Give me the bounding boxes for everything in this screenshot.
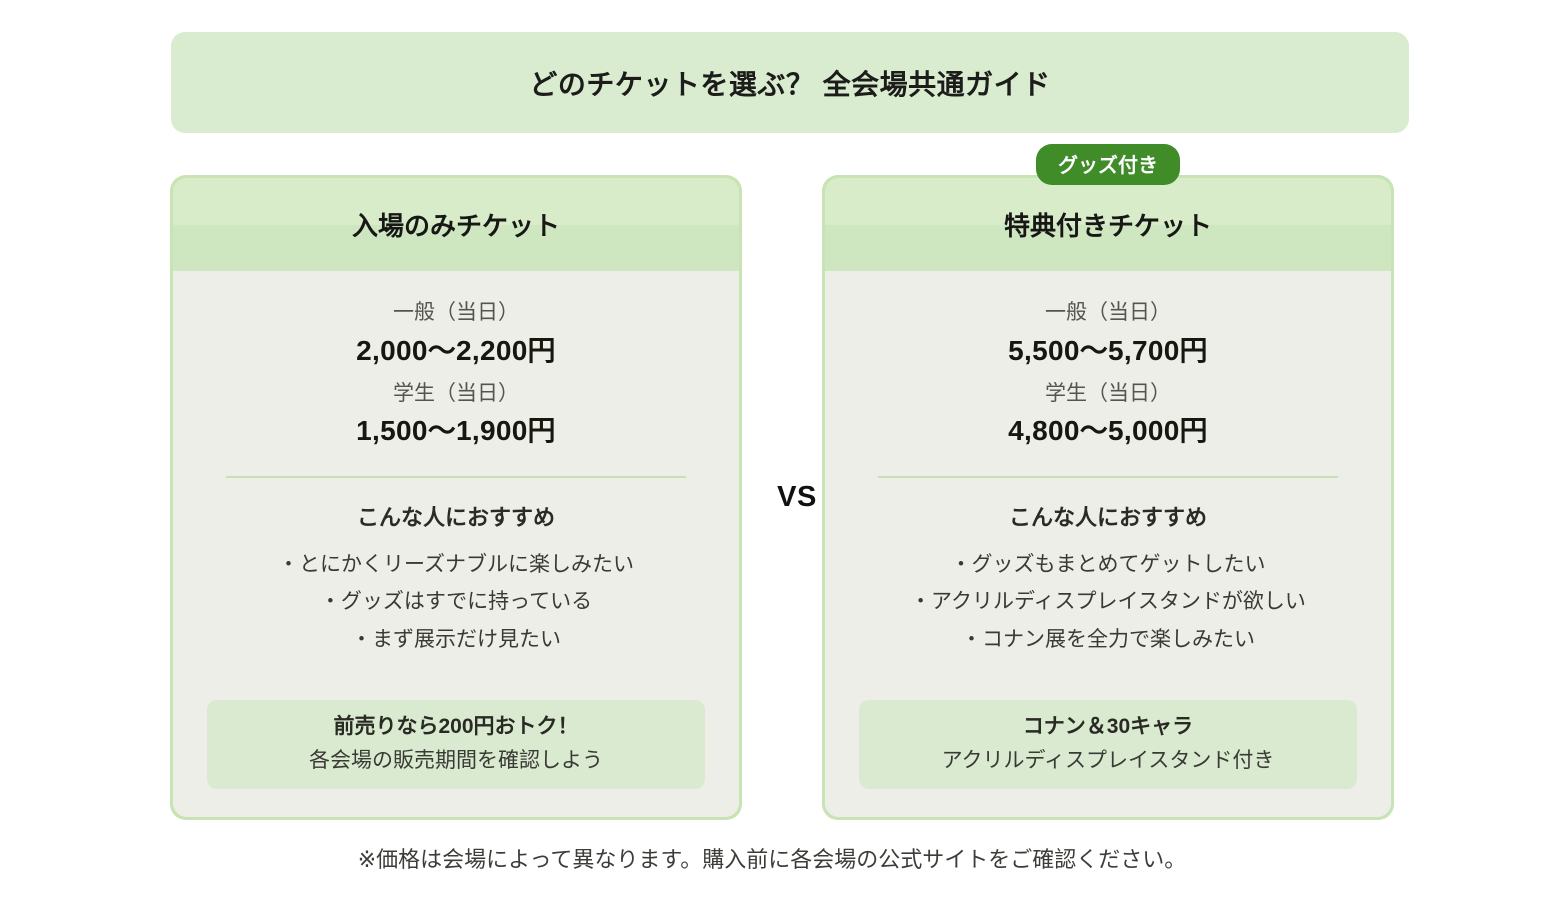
recommendation-title: こんな人におすすめ [357, 500, 555, 532]
card-inner: 入場のみチケット 一般（当日） 2,000〜2,200円 学生（当日） 1,50… [173, 178, 739, 817]
recommendation-list: ・グッズもまとめてゲットしたい ・アクリルディスプレイスタンドが欲しい ・コナン… [861, 546, 1355, 658]
comparison-row: 入場のみチケット 一般（当日） 2,000〜2,200円 学生（当日） 1,50… [0, 175, 1544, 820]
status-badge: グッズ付き [1036, 144, 1180, 185]
recommendation-list: ・とにかくリーズナブルに楽しみたい ・グッズはすでに持っている ・まず展示だけ見… [209, 546, 703, 658]
card-note-box: コナン＆30キャラ アクリルディスプレイスタンド付き [859, 700, 1357, 789]
list-item: ・アクリルディスプレイスタンドが欲しい [861, 583, 1355, 620]
page-footnote: ※価格は会場によって異なります。購入前に各会場の公式サイトをご確認ください。 [0, 842, 1544, 874]
price-label-general: 一般（当日） [209, 297, 703, 330]
card-body: 一般（当日） 2,000〜2,200円 学生（当日） 1,500〜1,900円 … [173, 271, 739, 817]
page-title: どのチケットを選ぶ？ 全会場共通ガイド [529, 63, 1050, 103]
card-header: 入場のみチケット [173, 178, 739, 271]
price-label-student: 学生（当日） [861, 378, 1355, 411]
card-title: 入場のみチケット [352, 206, 560, 243]
list-item: ・コナン展を全力で楽しみたい [861, 621, 1355, 658]
price-value-general: 5,500〜5,700円 [861, 330, 1355, 372]
card-note-box: 前売りなら200円おトク！ 各会場の販売期間を確認しよう [207, 700, 705, 789]
note-subtext: 各会場の販売期間を確認しよう [219, 745, 693, 777]
card-inner: 特典付きチケット 一般（当日） 5,500〜5,700円 学生（当日） 4,80… [825, 178, 1391, 817]
page-title-banner: どのチケットを選ぶ？ 全会場共通ガイド [171, 32, 1409, 133]
section-divider [878, 476, 1338, 478]
recommendation-title: こんな人におすすめ [1009, 500, 1207, 532]
card-header: 特典付きチケット [825, 178, 1391, 271]
card-title: 特典付きチケット [1004, 206, 1212, 243]
ticket-card-entry-only[interactable]: 入場のみチケット 一般（当日） 2,000〜2,200円 学生（当日） 1,50… [170, 175, 742, 820]
price-label-student: 学生（当日） [209, 378, 703, 411]
price-label-general: 一般（当日） [861, 297, 1355, 330]
note-subtext: アクリルディスプレイスタンド付き [871, 745, 1345, 777]
list-item: ・グッズもまとめてゲットしたい [861, 546, 1355, 583]
list-item: ・まず展示だけ見たい [209, 621, 703, 658]
card-body: 一般（当日） 5,500〜5,700円 学生（当日） 4,800〜5,000円 … [825, 271, 1391, 817]
price-block: 一般（当日） 2,000〜2,200円 学生（当日） 1,500〜1,900円 [209, 295, 703, 452]
list-item: ・グッズはすでに持っている [209, 583, 703, 620]
ticket-comparison-page: どのチケットを選ぶ？ 全会場共通ガイド 入場のみチケット 一般（当日） 2,00… [0, 0, 1544, 903]
price-value-student: 4,800〜5,000円 [861, 410, 1355, 452]
price-block: 一般（当日） 5,500〜5,700円 学生（当日） 4,800〜5,000円 [861, 295, 1355, 452]
ticket-card-with-goods[interactable]: グッズ付き 特典付きチケット 一般（当日） 5,500〜5,700円 学生（当日… [822, 175, 1394, 820]
price-value-general: 2,000〜2,200円 [209, 330, 703, 372]
list-item: ・とにかくリーズナブルに楽しみたい [209, 546, 703, 583]
note-headline: コナン＆30キャラ [871, 711, 1345, 743]
note-headline: 前売りなら200円おトク！ [219, 711, 693, 743]
section-divider [226, 476, 686, 478]
price-value-student: 1,500〜1,900円 [209, 410, 703, 452]
